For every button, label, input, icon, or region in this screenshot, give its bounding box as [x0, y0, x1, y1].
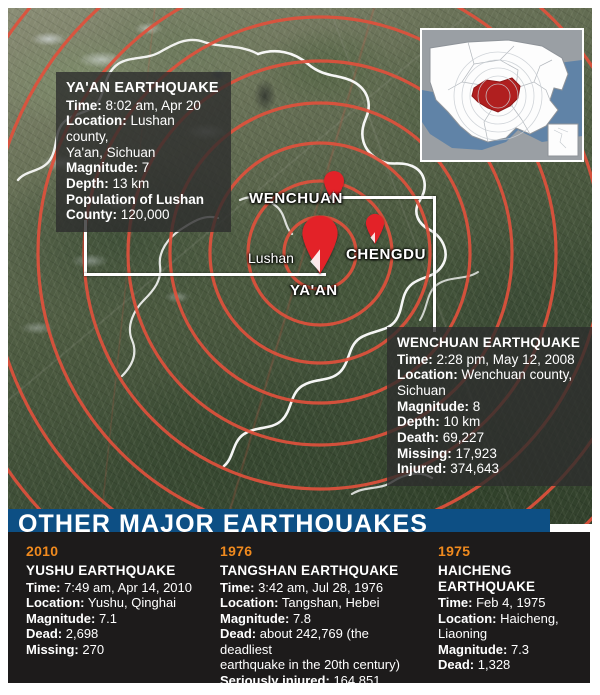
- row-label: County:: [66, 207, 117, 222]
- city-label-lushan: Lushan: [248, 250, 294, 266]
- earthquake-card-tangshan: 1976 TANGSHAN EARTHQUAKE Time: 3:42 am, …: [220, 543, 415, 689]
- row-label: Time:: [397, 352, 433, 367]
- china-locator-inset-map[interactable]: [420, 28, 584, 162]
- row-label: Magnitude:: [438, 642, 507, 657]
- row-value: Yushu, Qinghai: [88, 595, 176, 610]
- row-value: 7: [142, 160, 150, 175]
- yaan-box-row: Depth: 13 km: [66, 176, 221, 192]
- row-value: 3:42 am, Jul 28, 1976: [258, 580, 383, 595]
- city-label-chengdu: CHENGDU: [346, 246, 426, 263]
- row-value: 2:28 pm, May 12, 2008: [437, 352, 575, 367]
- wenchuan-box-row: Time: 2:28 pm, May 12, 2008: [397, 352, 592, 368]
- card-year: 1975: [438, 543, 588, 559]
- inset-map-svg: [422, 30, 582, 160]
- row-value: 7.8: [293, 611, 311, 626]
- yaan-earthquake-infobox: YA'AN EARTHQUAKE Time: 8:02 am, Apr 20 L…: [56, 72, 231, 232]
- card-row: Time: Feb 4, 1975: [438, 595, 588, 611]
- card-row: Seriously injured: 164,851: [220, 673, 415, 689]
- row-label: Time:: [66, 98, 102, 113]
- row-value: 270: [82, 642, 104, 657]
- row-value: 374,643: [450, 461, 499, 476]
- row-value: 2,698: [66, 626, 99, 641]
- city-label-yaan: YA'AN: [290, 282, 338, 299]
- row-value: Wenchuan county,: [462, 367, 573, 382]
- row-value: 1,328: [478, 657, 511, 672]
- row-label: Injured:: [397, 461, 447, 476]
- row-value: 13 km: [113, 176, 150, 191]
- row-value: earthquake in the 20th century): [220, 657, 400, 672]
- wenchuan-box-row: Missing: 17,923: [397, 446, 592, 462]
- row-label: Seriously injured:: [220, 673, 330, 688]
- yaan-box-row: Population of Lushan: [66, 192, 221, 208]
- card-row: Location: Yushu, Qinghai: [26, 595, 216, 611]
- card-row: Dead: 1,328: [438, 657, 588, 673]
- row-label: Magnitude:: [66, 160, 138, 175]
- row-value: 8: [473, 399, 481, 414]
- satellite-map[interactable]: WENCHUAN CHENGDU YA'AN Lushan YA'AN EART…: [8, 8, 592, 524]
- row-label: Time:: [220, 580, 254, 595]
- row-value: 164,851: [333, 673, 380, 688]
- row-label: Location:: [438, 611, 497, 626]
- city-label-wenchuan: WENCHUAN: [249, 190, 343, 207]
- card-row: Location: Tangshan, Hebei: [220, 595, 415, 611]
- card-row: Magnitude: 7.1: [26, 611, 216, 627]
- card-row: Missing: 270: [26, 642, 216, 658]
- row-label: Death:: [397, 430, 439, 445]
- card-year: 1976: [220, 543, 415, 559]
- wenchuan-box-row: Sichuan: [397, 383, 592, 399]
- row-value: Liaoning: [438, 626, 487, 641]
- row-value: Ya'an, Sichuan: [66, 145, 155, 160]
- row-label: Magnitude:: [220, 611, 289, 626]
- card-row: Liaoning: [438, 626, 588, 642]
- wenchuan-earthquake-infobox: WENCHUAN EARTHQUAKE Time: 2:28 pm, May 1…: [387, 327, 592, 486]
- row-value: Sichuan: [397, 383, 446, 398]
- yaan-box-row: County: 120,000: [66, 207, 221, 223]
- row-value: 8:02 am, Apr 20: [106, 98, 201, 113]
- wenchuan-box-row: Death: 69,227: [397, 430, 592, 446]
- card-name: YUSHU EARTHQUAKE: [26, 563, 216, 579]
- wenchuan-box-row: Depth: 10 km: [397, 414, 592, 430]
- yaan-box-row: Ya'an, Sichuan: [66, 145, 221, 161]
- row-value: 69,227: [443, 430, 484, 445]
- card-row: Time: 7:49 am, Apr 14, 2010: [26, 580, 216, 596]
- row-label: Magnitude:: [397, 399, 469, 414]
- row-value: Haicheng,: [500, 611, 559, 626]
- row-label: Depth:: [397, 414, 440, 429]
- row-value: 120,000: [121, 207, 170, 222]
- map-pin-yaan-epicenter[interactable]: [298, 214, 342, 274]
- wenchuan-box-row: Location: Wenchuan county,: [397, 367, 592, 383]
- yaan-box-title: YA'AN EARTHQUAKE: [66, 80, 221, 97]
- row-value: Feb 4, 1975: [476, 595, 545, 610]
- row-value: 7.1: [99, 611, 117, 626]
- leader-line-yaan-horizontal: [84, 273, 326, 276]
- map-pin-chengdu[interactable]: [364, 213, 386, 244]
- row-label: Depth:: [66, 176, 109, 191]
- row-value: 10 km: [444, 414, 481, 429]
- other-earthquakes-panel: 2010 YUSHU EARTHQUAKE Time: 7:49 am, Apr…: [8, 532, 590, 683]
- yaan-box-row: Location: Lushan county,: [66, 113, 221, 144]
- card-row: Location: Haicheng,: [438, 611, 588, 627]
- row-label: Missing:: [397, 446, 452, 461]
- leader-line-wenchuan-vertical: [433, 196, 436, 332]
- yaan-box-row: Magnitude: 7: [66, 160, 221, 176]
- row-value: 17,923: [456, 446, 497, 461]
- row-value: 7.3: [511, 642, 529, 657]
- row-value: 7:49 am, Apr 14, 2010: [64, 580, 192, 595]
- card-row: Time: 3:42 am, Jul 28, 1976: [220, 580, 415, 596]
- row-label: Location:: [66, 113, 127, 128]
- row-label: Dead:: [220, 626, 256, 641]
- row-value: Tangshan, Hebei: [282, 595, 380, 610]
- card-year: 2010: [26, 543, 216, 559]
- earthquake-card-haicheng: 1975 HAICHENG EARTHQUAKE Time: Feb 4, 19…: [438, 543, 588, 673]
- row-label: Dead:: [26, 626, 62, 641]
- row-label: Time:: [26, 580, 60, 595]
- row-label: Time:: [438, 595, 472, 610]
- wenchuan-box-title: WENCHUAN EARTHQUAKE: [397, 335, 592, 351]
- card-name: TANGSHAN EARTHQUAKE: [220, 563, 415, 579]
- row-label: Location:: [220, 595, 279, 610]
- card-row: Magnitude: 7.3: [438, 642, 588, 658]
- row-label: Location:: [26, 595, 85, 610]
- card-row: earthquake in the 20th century): [220, 657, 415, 673]
- card-name: HAICHENG EARTHQUAKE: [438, 563, 548, 594]
- row-label: Dead:: [438, 657, 474, 672]
- card-row: Dead: 2,698: [26, 626, 216, 642]
- wenchuan-box-row: Magnitude: 8: [397, 399, 592, 415]
- row-label: Population of Lushan: [66, 192, 204, 207]
- row-label: Magnitude:: [26, 611, 95, 626]
- earthquake-card-yushu: 2010 YUSHU EARTHQUAKE Time: 7:49 am, Apr…: [26, 543, 216, 657]
- card-row: Dead: about 242,769 (the deadliest: [220, 626, 415, 657]
- card-row: Magnitude: 7.8: [220, 611, 415, 627]
- row-label: Missing:: [26, 642, 79, 657]
- infographic-page: WENCHUAN CHENGDU YA'AN Lushan YA'AN EART…: [0, 0, 600, 695]
- yaan-box-row: Time: 8:02 am, Apr 20: [66, 98, 221, 114]
- wenchuan-box-row: Injured: 374,643: [397, 461, 592, 477]
- row-label: Location:: [397, 367, 458, 382]
